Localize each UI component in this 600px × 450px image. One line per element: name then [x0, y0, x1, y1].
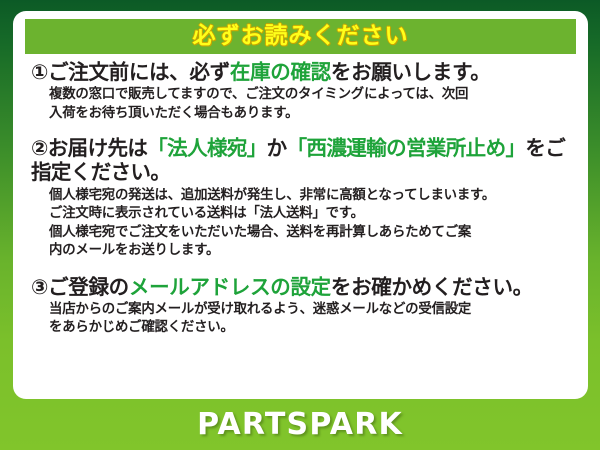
notice-item-3-heading: ③ご登録のメールアドレスの設定をお確かめください。 [31, 275, 572, 299]
notice-item-1-body: 複数の窓口で販売してますので、ご注文のタイミングによっては、次回 入荷をお待ち頂… [49, 86, 572, 123]
notice-item-2-marker: ② [31, 136, 48, 160]
notice-item-3-body: 当店からのご案内メールが受け取れるよう、迷惑メールなどの受信設定 をあらかじめご… [49, 301, 572, 338]
notice-item-2-body: 個人様宅宛の発送は、追加送料が発生し、非常に高額となってしまいます。 ご注文時に… [49, 187, 572, 261]
notice-item-3-heading-highlight: メールアドレスの設定 [129, 275, 331, 299]
notice-item-2-heading: ②お届け先は「法人様宛」か「西濃運輸の営業所止め」をご指定ください。 [31, 136, 572, 184]
brand-name: PARTSPARK [197, 410, 403, 440]
notice-item-3-heading-part-1: ご登録の [48, 275, 129, 299]
header-bar: 必ずお読みください [25, 19, 576, 54]
brand-footer: PARTSPARK [0, 399, 600, 450]
notice-item-3: ③ご登録のメールアドレスの設定をお確かめください。 当店からのご案内メールが受け… [25, 275, 576, 338]
header-title: 必ずお読みください [193, 25, 409, 48]
notice-item-3-marker: ③ [31, 275, 48, 299]
notice-item-1-marker: ① [31, 60, 48, 84]
notice-item-2-heading-part-1: お届け先は [48, 136, 148, 160]
notice-banner: 必ずお読みください ①ご注文前には、必ず在庫の確認をお願いします。 複数の窓口で… [0, 0, 600, 450]
notice-item-1-heading: ①ご注文前には、必ず在庫の確認をお願いします。 [31, 60, 572, 84]
notice-item-2-heading-part-3: か [267, 136, 287, 160]
notice-item-2-heading-highlight-2: 「西濃運輸の営業所止め」 [287, 136, 526, 160]
notice-item-2-heading-highlight-1: 「法人様宛」 [147, 136, 266, 160]
notice-item-1: ①ご注文前には、必ず在庫の確認をお願いします。 複数の窓口で販売してますので、ご… [25, 60, 576, 123]
notice-item-1-heading-part-3: をお願いします。 [331, 60, 491, 84]
notice-item-1-heading-part-1: ご注文前には、必ず [48, 60, 230, 84]
notice-item-3-heading-part-3: をお確かめください。 [331, 275, 533, 299]
notice-card: 必ずお読みください ①ご注文前には、必ず在庫の確認をお願いします。 複数の窓口で… [13, 11, 588, 399]
notice-item-2: ②お届け先は「法人様宛」か「西濃運輸の営業所止め」をご指定ください。 個人様宅宛… [25, 136, 576, 260]
notice-item-1-heading-highlight: 在庫の確認 [230, 60, 331, 84]
